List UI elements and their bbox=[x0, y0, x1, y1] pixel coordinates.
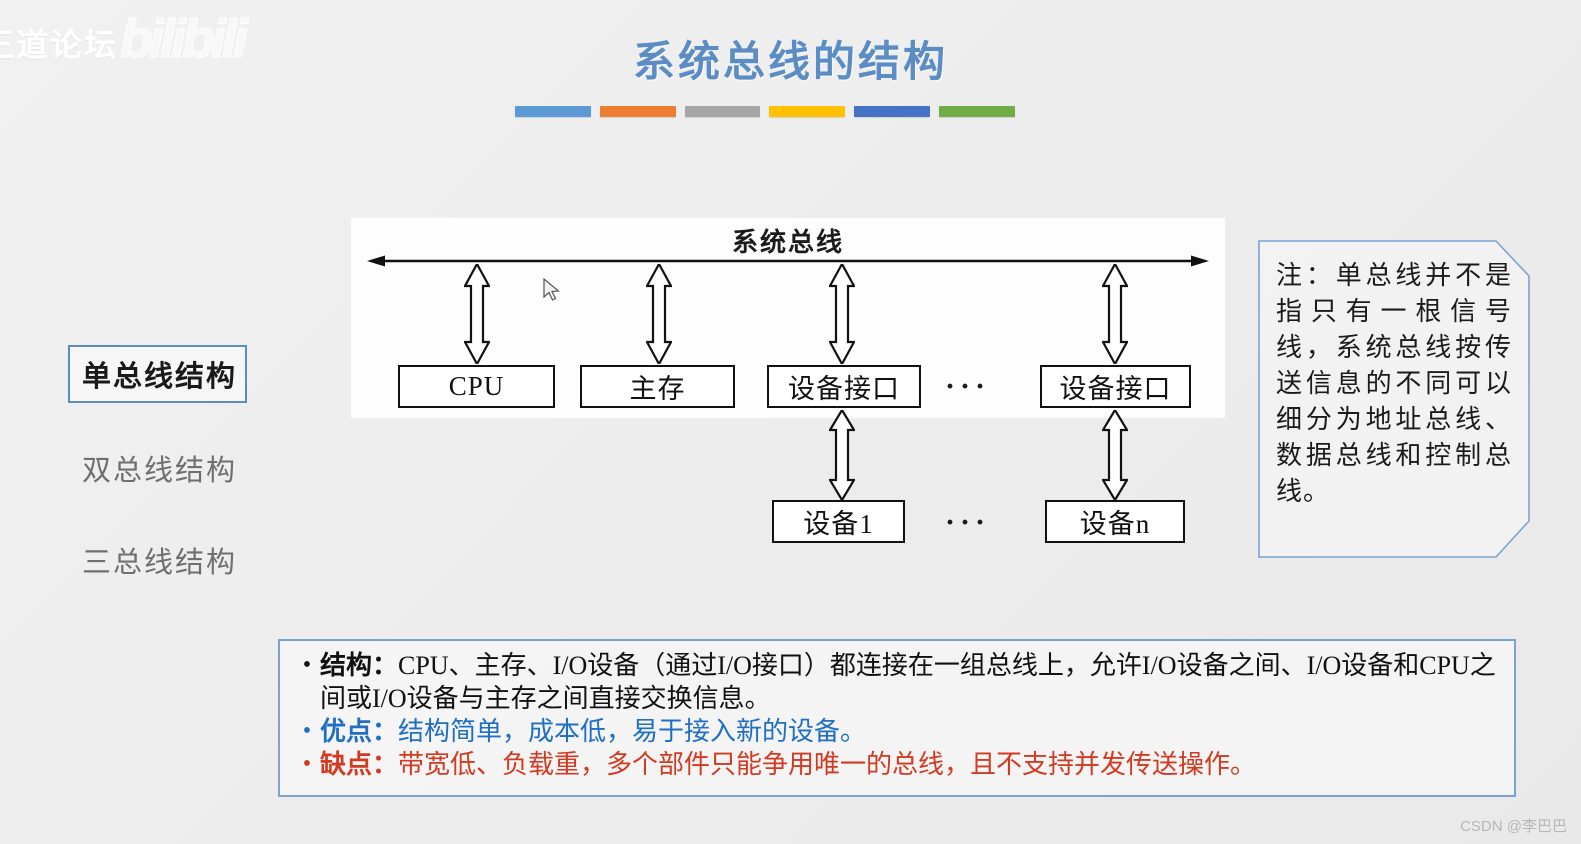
note-callout: 注：单总线并不是指只有一根信号线，系统总线按传送信息的不同可以细分为地址总线、数… bbox=[1258, 240, 1530, 558]
summary-disadvantages-keyword: 缺点： bbox=[320, 750, 398, 779]
accent-bar-3 bbox=[685, 106, 761, 117]
interface-arrow-device-1 bbox=[829, 410, 855, 500]
node-main-memory[interactable]: 主存 bbox=[580, 365, 735, 408]
page-title: 系统总线的结构 bbox=[0, 28, 1581, 89]
bus-arrow-main-memory bbox=[646, 264, 672, 364]
bus-structure-diagram: 系统总线 CPU 主存 设备接口 ··· 设备接口 bbox=[351, 218, 1225, 558]
bus-arrow-device-interface-n bbox=[1102, 264, 1128, 364]
summary-advantages-text: 优点：结构简单，成本低，易于接入新的设备。 bbox=[320, 715, 1504, 748]
system-bus-line bbox=[367, 254, 1209, 268]
node-device-n[interactable]: 设备n bbox=[1045, 500, 1185, 543]
accent-bar-6 bbox=[939, 106, 1015, 117]
accent-bar-1 bbox=[515, 106, 591, 117]
summary-advantages-body: 结构简单，成本低，易于接入新的设备。 bbox=[398, 717, 866, 746]
bullet-structure-icon: • bbox=[294, 649, 320, 682]
interface-arrow-device-n bbox=[1102, 410, 1128, 500]
structure-nav-list: 单总线结构 双总线结构 三总线结构 bbox=[68, 345, 288, 625]
node-device-interface-n[interactable]: 设备接口 bbox=[1040, 365, 1191, 408]
summary-disadvantages-text: 缺点：带宽低、负载重，多个部件只能争用唯一的总线，且不支持并发传送操作。 bbox=[320, 748, 1504, 781]
summary-structure-keyword: 结构： bbox=[320, 651, 398, 680]
summary-advantages-keyword: 优点： bbox=[320, 717, 398, 746]
row2-ellipsis: ··· bbox=[945, 506, 990, 540]
note-text: 注：单总线并不是指只有一根信号线，系统总线按传送信息的不同可以细分为地址总线、数… bbox=[1276, 258, 1512, 510]
bus-arrow-cpu bbox=[464, 264, 490, 364]
summary-structure-body: CPU、主存、I/O设备（通过I/O接口）都连接在一组总线上，允许I/O设备之间… bbox=[320, 651, 1496, 713]
sidebar-item-dual-bus[interactable]: 双总线结构 bbox=[68, 441, 288, 495]
summary-structure-text: 结构：CPU、主存、I/O设备（通过I/O接口）都连接在一组总线上，允许I/O设… bbox=[320, 649, 1504, 715]
mouse-cursor-icon bbox=[543, 278, 561, 302]
bus-arrow-device-interface-1 bbox=[829, 264, 855, 364]
bullet-advantages-icon: • bbox=[294, 715, 320, 748]
summary-line-structure: • 结构：CPU、主存、I/O设备（通过I/O接口）都连接在一组总线上，允许I/… bbox=[294, 649, 1504, 715]
accent-bar-5 bbox=[854, 106, 930, 117]
summary-line-disadvantages: • 缺点：带宽低、负载重，多个部件只能争用唯一的总线，且不支持并发传送操作。 bbox=[294, 748, 1504, 781]
node-device-interface-1[interactable]: 设备接口 bbox=[767, 365, 921, 408]
accent-bar-4 bbox=[769, 106, 845, 117]
csdn-watermark: CSDN @李巴巴 bbox=[1460, 815, 1567, 836]
summary-text-box: • 结构：CPU、主存、I/O设备（通过I/O接口）都连接在一组总线上，允许I/… bbox=[278, 639, 1516, 797]
bullet-disadvantages-icon: • bbox=[294, 748, 320, 781]
summary-line-advantages: • 优点：结构简单，成本低，易于接入新的设备。 bbox=[294, 715, 1504, 748]
title-accent-bars bbox=[515, 106, 1015, 117]
row1-ellipsis: ··· bbox=[945, 370, 990, 404]
accent-bar-2 bbox=[600, 106, 676, 117]
node-device-1[interactable]: 设备1 bbox=[772, 500, 905, 543]
node-cpu[interactable]: CPU bbox=[398, 365, 555, 408]
sidebar-item-single-bus[interactable]: 单总线结构 bbox=[68, 345, 247, 403]
summary-disadvantages-body: 带宽低、负载重，多个部件只能争用唯一的总线，且不支持并发传送操作。 bbox=[398, 750, 1256, 779]
slide-canvas: 王道论坛 bilibili CSDN @李巴巴 系统总线的结构 单总线结构 双总… bbox=[0, 0, 1581, 844]
sidebar-item-triple-bus[interactable]: 三总线结构 bbox=[68, 533, 288, 587]
